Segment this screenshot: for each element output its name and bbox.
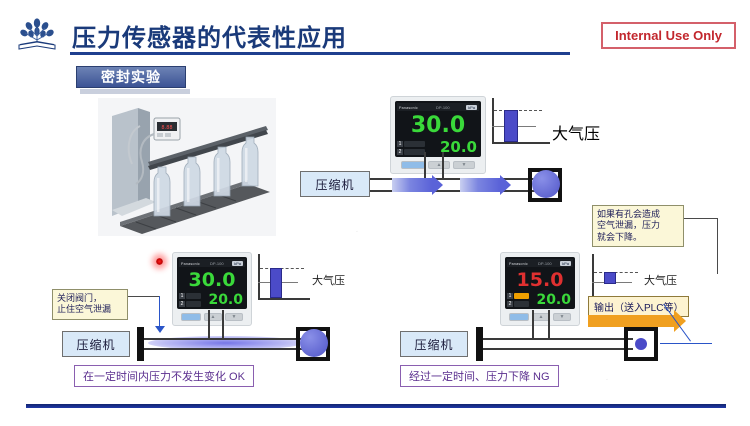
sensor-down-button[interactable]: ▼	[225, 313, 243, 321]
sensor-up-button[interactable]: ▲	[204, 313, 222, 321]
gauge-label-top: 大气压	[552, 120, 600, 144]
sensor-model: DP-100	[436, 105, 450, 110]
pipe-left-lower	[144, 348, 304, 350]
channel-2-label: 2	[507, 301, 513, 307]
pressure-bar	[604, 272, 616, 284]
valve-left	[137, 327, 144, 361]
gauge-label-right: 大气压	[644, 272, 677, 288]
sensor-main-value: 15.0	[507, 268, 573, 291]
sensor-tap-top-left	[424, 152, 426, 178]
watermark-2: ·	[355, 228, 361, 236]
pressure-gauge-left	[258, 254, 310, 300]
sensor-mode-button[interactable]	[401, 161, 425, 169]
channel-1-bar	[514, 293, 529, 299]
pressure-gauge-top	[492, 98, 550, 144]
close-valve-arrowhead-icon	[155, 326, 165, 333]
sensor-buttons: ▲ ▼	[505, 313, 575, 321]
close-valve-leader-v	[159, 296, 160, 328]
tree-book-logo-icon	[14, 14, 60, 54]
sensor-unit: kPa	[232, 261, 243, 266]
sensor-channel-1: 1	[507, 293, 529, 300]
sensor-mode-button[interactable]	[509, 313, 529, 321]
status-badge: Internal Use Only	[601, 22, 736, 49]
flow-arrow-top-2	[460, 178, 500, 192]
sensor-channel-column: 1 2	[507, 293, 529, 307]
leak-callout-leader-h	[684, 218, 718, 219]
output-arrow	[588, 315, 674, 327]
conveyor-photo: 8.88	[98, 98, 276, 236]
leak-pointer-line	[660, 343, 712, 344]
led-indicator-left	[156, 258, 163, 265]
channel-1-label: 1	[507, 293, 513, 299]
vessel-left	[300, 329, 328, 357]
sensor-channel-2: 2	[179, 301, 201, 308]
sensor-unit: kPa	[560, 261, 571, 266]
channel-1-label: 1	[179, 293, 185, 299]
watermark-3: ·	[605, 376, 611, 384]
pressure-bar	[270, 268, 282, 298]
pressure-bar	[504, 110, 518, 142]
section-tag-shadow	[80, 89, 190, 94]
sensor-tap-left-1	[208, 310, 210, 338]
result-ng-callout: 经过一定时间、压力下降 NG	[400, 365, 559, 387]
sensor-channel-2: 2	[397, 148, 425, 155]
sensor-display-right: Panasonic DP-100 kPa 15.0 1 2 20.0	[500, 252, 580, 326]
channel-2-label: 2	[397, 149, 403, 155]
sensor-tap-right-1	[532, 310, 534, 338]
sensor-channel-1: 1	[397, 140, 425, 147]
sensor-sub-row: 1 2 20.0	[397, 140, 479, 155]
vessel-top	[532, 170, 560, 198]
sensor-down-button[interactable]: ▼	[453, 161, 475, 169]
sensor-model: DP-100	[210, 261, 224, 266]
sensor-sub-value: 20.0	[531, 293, 573, 307]
valve-right	[476, 327, 483, 361]
close-valve-callout: 关闭阀门， 止住空气泄漏	[52, 289, 128, 320]
leak-hole-icon	[635, 338, 647, 350]
sensor-brand-bar: Panasonic DP-100 kPa	[397, 103, 479, 111]
sensor-tap-right-2	[548, 310, 550, 338]
channel-2-bar	[514, 301, 529, 307]
footer-rule	[26, 404, 726, 408]
sensor-tap-left-2	[222, 310, 224, 338]
pipe-left-upper	[144, 338, 304, 340]
sensor-sub-row: 1 2 20.0	[507, 293, 573, 307]
sensor-buttons: ▲ ▼	[395, 161, 481, 169]
sensor-model: DP-100	[538, 261, 552, 266]
result-ok-callout: 在一定时间内压力不发生变化 OK	[74, 365, 254, 387]
sensor-brand: Panasonic	[399, 105, 418, 110]
sensor-display-top: Panasonic DP-100 kPa 30.0 1 2 20.0	[390, 96, 486, 174]
sensor-main-value: 30.0	[179, 268, 245, 291]
sensor-brand-bar: Panasonic DP-100 kPa	[507, 259, 573, 267]
channel-1-label: 1	[397, 141, 403, 147]
section-tag: 密封实验	[76, 66, 186, 88]
pipe-right-lower	[483, 348, 633, 350]
channel-1-bar	[186, 293, 201, 299]
sensor-screen: Panasonic DP-100 kPa 15.0 1 2 20.0	[505, 257, 575, 309]
channel-2-bar	[404, 149, 425, 155]
sensor-sub-value: 20.0	[203, 293, 245, 307]
title-underline	[70, 52, 570, 55]
pipe-right-upper	[483, 338, 633, 340]
sensor-brand: Panasonic	[181, 261, 200, 266]
sensor-channel-2: 2	[507, 301, 529, 308]
sensor-tap-top-right	[442, 152, 444, 178]
compressor-box-top: 压缩机	[300, 171, 370, 197]
compressor-box-right: 压缩机	[400, 331, 468, 357]
sensor-up-button[interactable]: ▲	[428, 161, 450, 169]
page-title: 压力传感器的代表性应用	[72, 18, 347, 53]
gauge-label-left: 大气压	[312, 272, 345, 288]
channel-1-bar	[404, 141, 425, 147]
flow-arrow-top-1	[392, 178, 432, 192]
sensor-sub-value: 20.0	[427, 140, 479, 155]
sensor-brand: Panasonic	[509, 261, 528, 266]
sensor-sub-row: 1 2 20.0	[179, 293, 245, 307]
sensor-unit: kPa	[466, 105, 477, 110]
svg-text:8.88: 8.88	[161, 125, 172, 131]
sensor-screen: Panasonic DP-100 kPa 30.0 1 2 20.0	[177, 257, 247, 309]
sensor-mode-button[interactable]	[181, 313, 201, 321]
sensor-down-button[interactable]: ▼	[553, 313, 571, 321]
channel-2-label: 2	[179, 301, 185, 307]
leak-explain-callout: 如果有孔会造成 空气泄漏，压力 就会下降。	[592, 205, 684, 247]
sensor-buttons: ▲ ▼	[177, 313, 247, 321]
sensor-screen: Panasonic DP-100 kPa 30.0 1 2 20.0	[395, 101, 481, 157]
compressor-box-left: 压缩机	[62, 331, 130, 357]
sensor-channel-column: 1 2	[179, 293, 201, 307]
sensor-display-left: Panasonic DP-100 kPa 30.0 1 2 20.0	[172, 252, 252, 326]
sensor-channel-column: 1 2	[397, 140, 425, 155]
sensor-brand-bar: Panasonic DP-100 kPa	[179, 259, 245, 267]
sensor-main-value: 30.0	[397, 112, 479, 138]
leak-callout-leader-v	[717, 218, 718, 274]
sensor-channel-1: 1	[179, 293, 201, 300]
channel-2-bar	[186, 301, 201, 307]
close-valve-leader-h	[128, 296, 160, 297]
slide-root: 压力传感器的代表性应用 Internal Use Only 密封实验 8.88	[0, 0, 750, 426]
pressure-gauge-right	[592, 254, 644, 300]
